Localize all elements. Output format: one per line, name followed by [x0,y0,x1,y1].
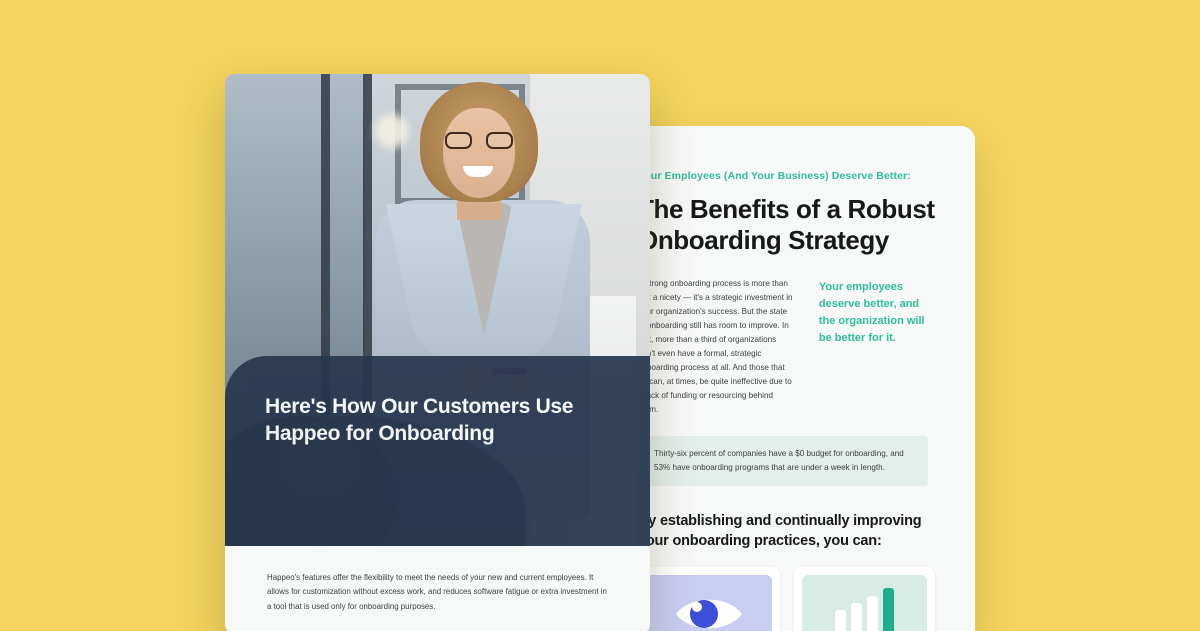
right-document-intro-paragraph: A strong onboarding process is more than… [638,277,793,416]
bar-chart-icon [802,575,928,631]
left-document-page[interactable]: Here's How Our Customers Use Happeo for … [225,74,650,631]
left-document-footer-paragraph: Happeo's features offer the flexibility … [267,571,610,614]
right-document-pullquote: Your employees deserve better, and the o… [819,277,935,346]
right-document-title: The Benefits of a Robust Onboarding Stra… [638,194,935,255]
bar-3 [867,596,878,631]
benefit-card-productivity[interactable]: Increase productivity and performance Ef… [794,567,936,631]
bar-1 [835,610,846,631]
photo-woman-glasses [445,132,513,149]
stat-callout-text: Thirty-six percent of companies have a $… [654,447,912,475]
bar-4 [883,588,894,631]
eye-icon [646,575,772,631]
benefit-card-employee-satisfaction[interactable]: Improve employee satisfaction A positive… [638,567,780,631]
stat-callout-box: Thirty-six percent of companies have a $… [638,436,928,486]
photo-woman-face [443,108,515,198]
left-document-footer: Happeo's features offer the flexibility … [225,546,650,631]
bar-2 [851,603,862,631]
hero-title-overlay: Here's How Our Customers Use Happeo for … [225,356,650,546]
left-document-title: Here's How Our Customers Use Happeo for … [265,394,616,448]
bar-chart-bars [835,588,894,631]
photo-lamp [375,114,409,148]
right-document-intro-row: A strong onboarding process is more than… [638,277,935,416]
right-document-kicker: Your Employees (And Your Business) Deser… [638,170,935,182]
right-document-intro-column: A strong onboarding process is more than… [638,277,793,416]
right-document-section-heading: By establishing and continually improvin… [638,512,935,551]
benefit-cards: Improve employee satisfaction A positive… [638,567,935,631]
